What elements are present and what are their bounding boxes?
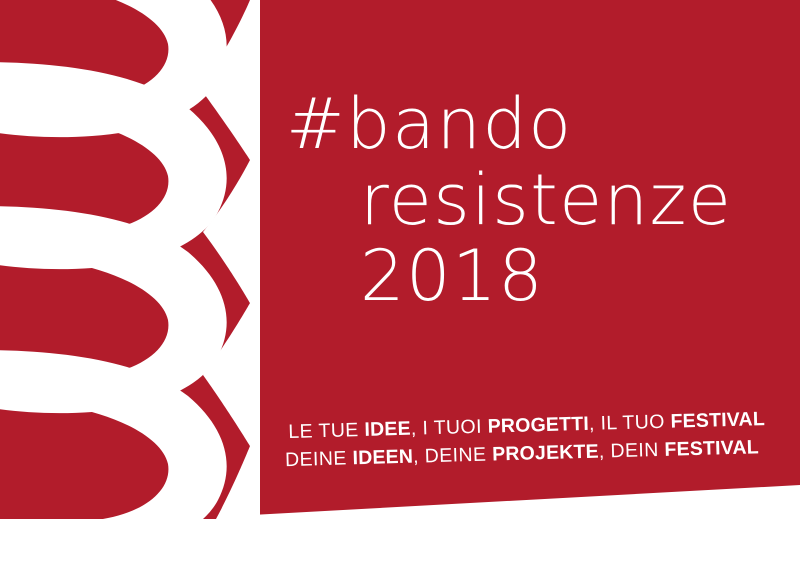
- poster-title: #bando resistenze 2018: [286, 86, 732, 314]
- tagline-emphasis: IDEE: [364, 418, 411, 441]
- tagline-plain: LE TUE: [288, 419, 365, 443]
- tagline-plain: , DEINE: [413, 443, 493, 467]
- tagline-emphasis: FESTIVAL: [664, 436, 759, 461]
- title-line-hashtag-bando: #bando: [286, 86, 732, 162]
- tagline-emphasis: PROJEKTE: [492, 441, 599, 466]
- tagline-emphasis: PROGETTI: [487, 413, 589, 438]
- coil-spring-logo-icon: [0, 0, 260, 567]
- tagline-plain: DEINE: [285, 447, 353, 471]
- tagline-plain: , I TUOI: [411, 416, 488, 440]
- title-line-year: 2018: [360, 238, 732, 314]
- poster-canvas: #bando resistenze 2018 LE TUE IDEE, I TU…: [0, 0, 800, 567]
- title-line-resistenze: resistenze: [360, 162, 732, 238]
- tagline-plain: , IL TUO: [589, 411, 671, 435]
- tagline-plain: , DEIN: [599, 439, 665, 463]
- tagline-emphasis: IDEEN: [352, 446, 413, 470]
- tagline-emphasis: FESTIVAL: [670, 408, 765, 433]
